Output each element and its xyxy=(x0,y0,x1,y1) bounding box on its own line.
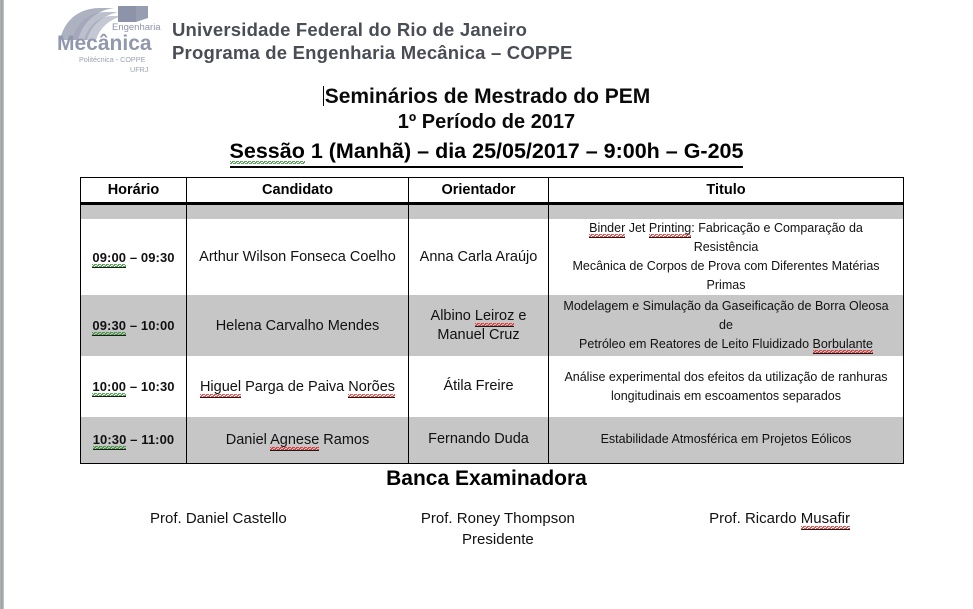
titulo-term-2: Jet xyxy=(625,221,649,235)
cell-horario: 10:00 – 10:30 xyxy=(81,356,187,417)
horario-start: 10:00 xyxy=(92,379,126,397)
cell-titulo: Binder Jet Printing: Fabricação e Compar… xyxy=(549,219,904,295)
column-header-orientador: Orientador xyxy=(409,178,549,204)
candidato-part-3: Ramos xyxy=(319,432,369,448)
column-header-titulo: Titulo xyxy=(549,178,904,204)
banca-member-name-part-1: Prof. Ricardo xyxy=(709,510,801,527)
seminar-period: 1º Período de 2017 xyxy=(0,110,973,135)
horario-start: 09:00 xyxy=(92,250,126,268)
titulo-line-1: Análise experimental dos efeitos da util… xyxy=(564,370,887,384)
table-row: 10:00 – 10:30 Higuel Parga de Paiva Norõ… xyxy=(81,356,904,417)
orientador-part-3: e xyxy=(514,308,526,324)
spacer-cell xyxy=(81,204,187,220)
banca-member-name-part-2: Musafir xyxy=(801,510,850,530)
spacer-cell xyxy=(549,204,904,220)
schedule-table: Horário Candidato Orientador Titulo 09:0… xyxy=(80,177,904,464)
titulo-line-2: Mecânica de Corpos de Prova com Diferent… xyxy=(572,259,879,292)
candidato-part-1: Daniel xyxy=(226,432,270,448)
document-header: Engenharia Mecânica Politécnica - COPPE … xyxy=(0,0,973,78)
titulo-term-3: Printing xyxy=(649,221,691,238)
column-header-horario: Horário xyxy=(81,178,187,204)
seminar-title: Seminários de Mestrado do PEM xyxy=(0,84,973,109)
cell-orientador: Átila Freire xyxy=(409,356,549,417)
horario-rest: – 09:30 xyxy=(126,250,175,265)
banca-member: Prof. Roney Thompson Presidente xyxy=(421,508,575,550)
cell-titulo: Modelagem e Simulação da Gaseificação de… xyxy=(549,295,904,356)
table-row: 10:30 – 11:00 Daniel Agnese Ramos Fernan… xyxy=(81,417,904,463)
cell-candidato: Helena Carvalho Mendes xyxy=(187,295,409,356)
table-row: 09:00 – 09:30 Arthur Wilson Fonseca Coel… xyxy=(81,219,904,295)
session-heading-rest: 1 (Manhã) – dia 25/05/2017 – 9:00h – G-2… xyxy=(305,139,744,163)
cell-titulo: Estabilidade Atmosférica em Projetos Eól… xyxy=(549,417,904,463)
titulo-term-1: Binder xyxy=(589,221,625,238)
horario-rest: – 10:00 xyxy=(126,318,175,333)
spacer-cell xyxy=(187,204,409,220)
candidato-part-1: Higuel xyxy=(200,379,241,398)
candidato-part-2: Agnese xyxy=(270,432,319,451)
banca-examinadora-title: Banca Examinadora xyxy=(0,467,973,491)
horario-start: 10:30 xyxy=(93,432,127,450)
orientador-part-2: Leiroz xyxy=(475,308,515,327)
titulo-line-1: Modelagem e Simulação da Gaseificação de… xyxy=(563,299,888,332)
seminar-title-text: Seminários de Mestrado do PEM xyxy=(325,85,651,108)
text-cursor xyxy=(323,86,324,106)
cell-orientador: Fernando Duda xyxy=(409,417,549,463)
table-header-row: Horário Candidato Orientador Titulo xyxy=(81,178,904,204)
horario-rest: – 10:30 xyxy=(126,379,175,394)
banca-member-name: Prof. Daniel Castello xyxy=(150,510,287,527)
session-heading-word: Sessão xyxy=(230,139,305,164)
candidato-part-3: Norões xyxy=(348,379,395,398)
horario-rest: – 11:00 xyxy=(126,432,174,447)
titulo-line-2: longitudinais em escoamentos separados xyxy=(611,389,841,403)
cell-orientador: Albino Leiroz e Manuel Cruz xyxy=(409,295,549,356)
banca-members-row: Prof. Daniel Castello Prof. Roney Thomps… xyxy=(150,508,850,550)
cell-horario: 10:30 – 11:00 xyxy=(81,417,187,463)
orientador-line-2: Manuel Cruz xyxy=(437,327,519,343)
organization-line-program: Programa de Engenharia Mecânica – COPPE xyxy=(172,41,573,64)
engenharia-mecanica-logo: Engenharia Mecânica Politécnica - COPPE … xyxy=(56,6,164,74)
cell-candidato: Daniel Agnese Ramos xyxy=(187,417,409,463)
cell-horario: 09:00 – 09:30 xyxy=(81,219,187,295)
logo-title-main: Mecânica xyxy=(57,32,152,55)
titulo-line-1-rest: : Fabricação e Comparação da Resistência xyxy=(691,221,863,254)
title-block: Seminários de Mestrado do PEM 1º Período… xyxy=(0,84,973,168)
titulo-line-2-b: Borbulante xyxy=(813,337,873,354)
banca-member: Prof. Daniel Castello xyxy=(150,508,287,529)
cell-horario: 09:30 – 10:00 xyxy=(81,295,187,356)
column-header-candidato: Candidato xyxy=(187,178,409,204)
titulo-line-2-a: Petróleo em Reatores de Leito Fluidizado xyxy=(579,337,812,351)
banca-member-role: Presidente xyxy=(421,529,575,550)
banca-member: Prof. Ricardo Musafir xyxy=(709,508,850,529)
logo-subtitle-1: Politécnica - COPPE xyxy=(79,55,146,64)
logo-subtitle-2: UFRJ xyxy=(130,65,149,74)
candidato-part-2: Parga de Paiva xyxy=(241,379,348,395)
horario-start: 09:30 xyxy=(92,318,126,336)
table-spacer-row xyxy=(81,204,904,220)
cell-orientador: Anna Carla Araújo xyxy=(409,219,549,295)
cell-candidato: Arthur Wilson Fonseca Coelho xyxy=(187,219,409,295)
orientador-part-1: Albino xyxy=(431,308,475,324)
spacer-cell xyxy=(409,204,549,220)
cell-titulo: Análise experimental dos efeitos da util… xyxy=(549,356,904,417)
organization-line-university: Universidade Federal do Rio de Janeiro xyxy=(172,18,573,41)
banca-member-name: Prof. Roney Thompson xyxy=(421,510,575,527)
table-row: 09:30 – 10:00 Helena Carvalho Mendes Alb… xyxy=(81,295,904,356)
document-page: Engenharia Mecânica Politécnica - COPPE … xyxy=(0,0,973,609)
organization-heading: Universidade Federal do Rio de Janeiro P… xyxy=(172,18,573,64)
session-heading: Sessão 1 (Manhã) – dia 25/05/2017 – 9:00… xyxy=(230,138,744,168)
cell-candidato: Higuel Parga de Paiva Norões xyxy=(187,356,409,417)
